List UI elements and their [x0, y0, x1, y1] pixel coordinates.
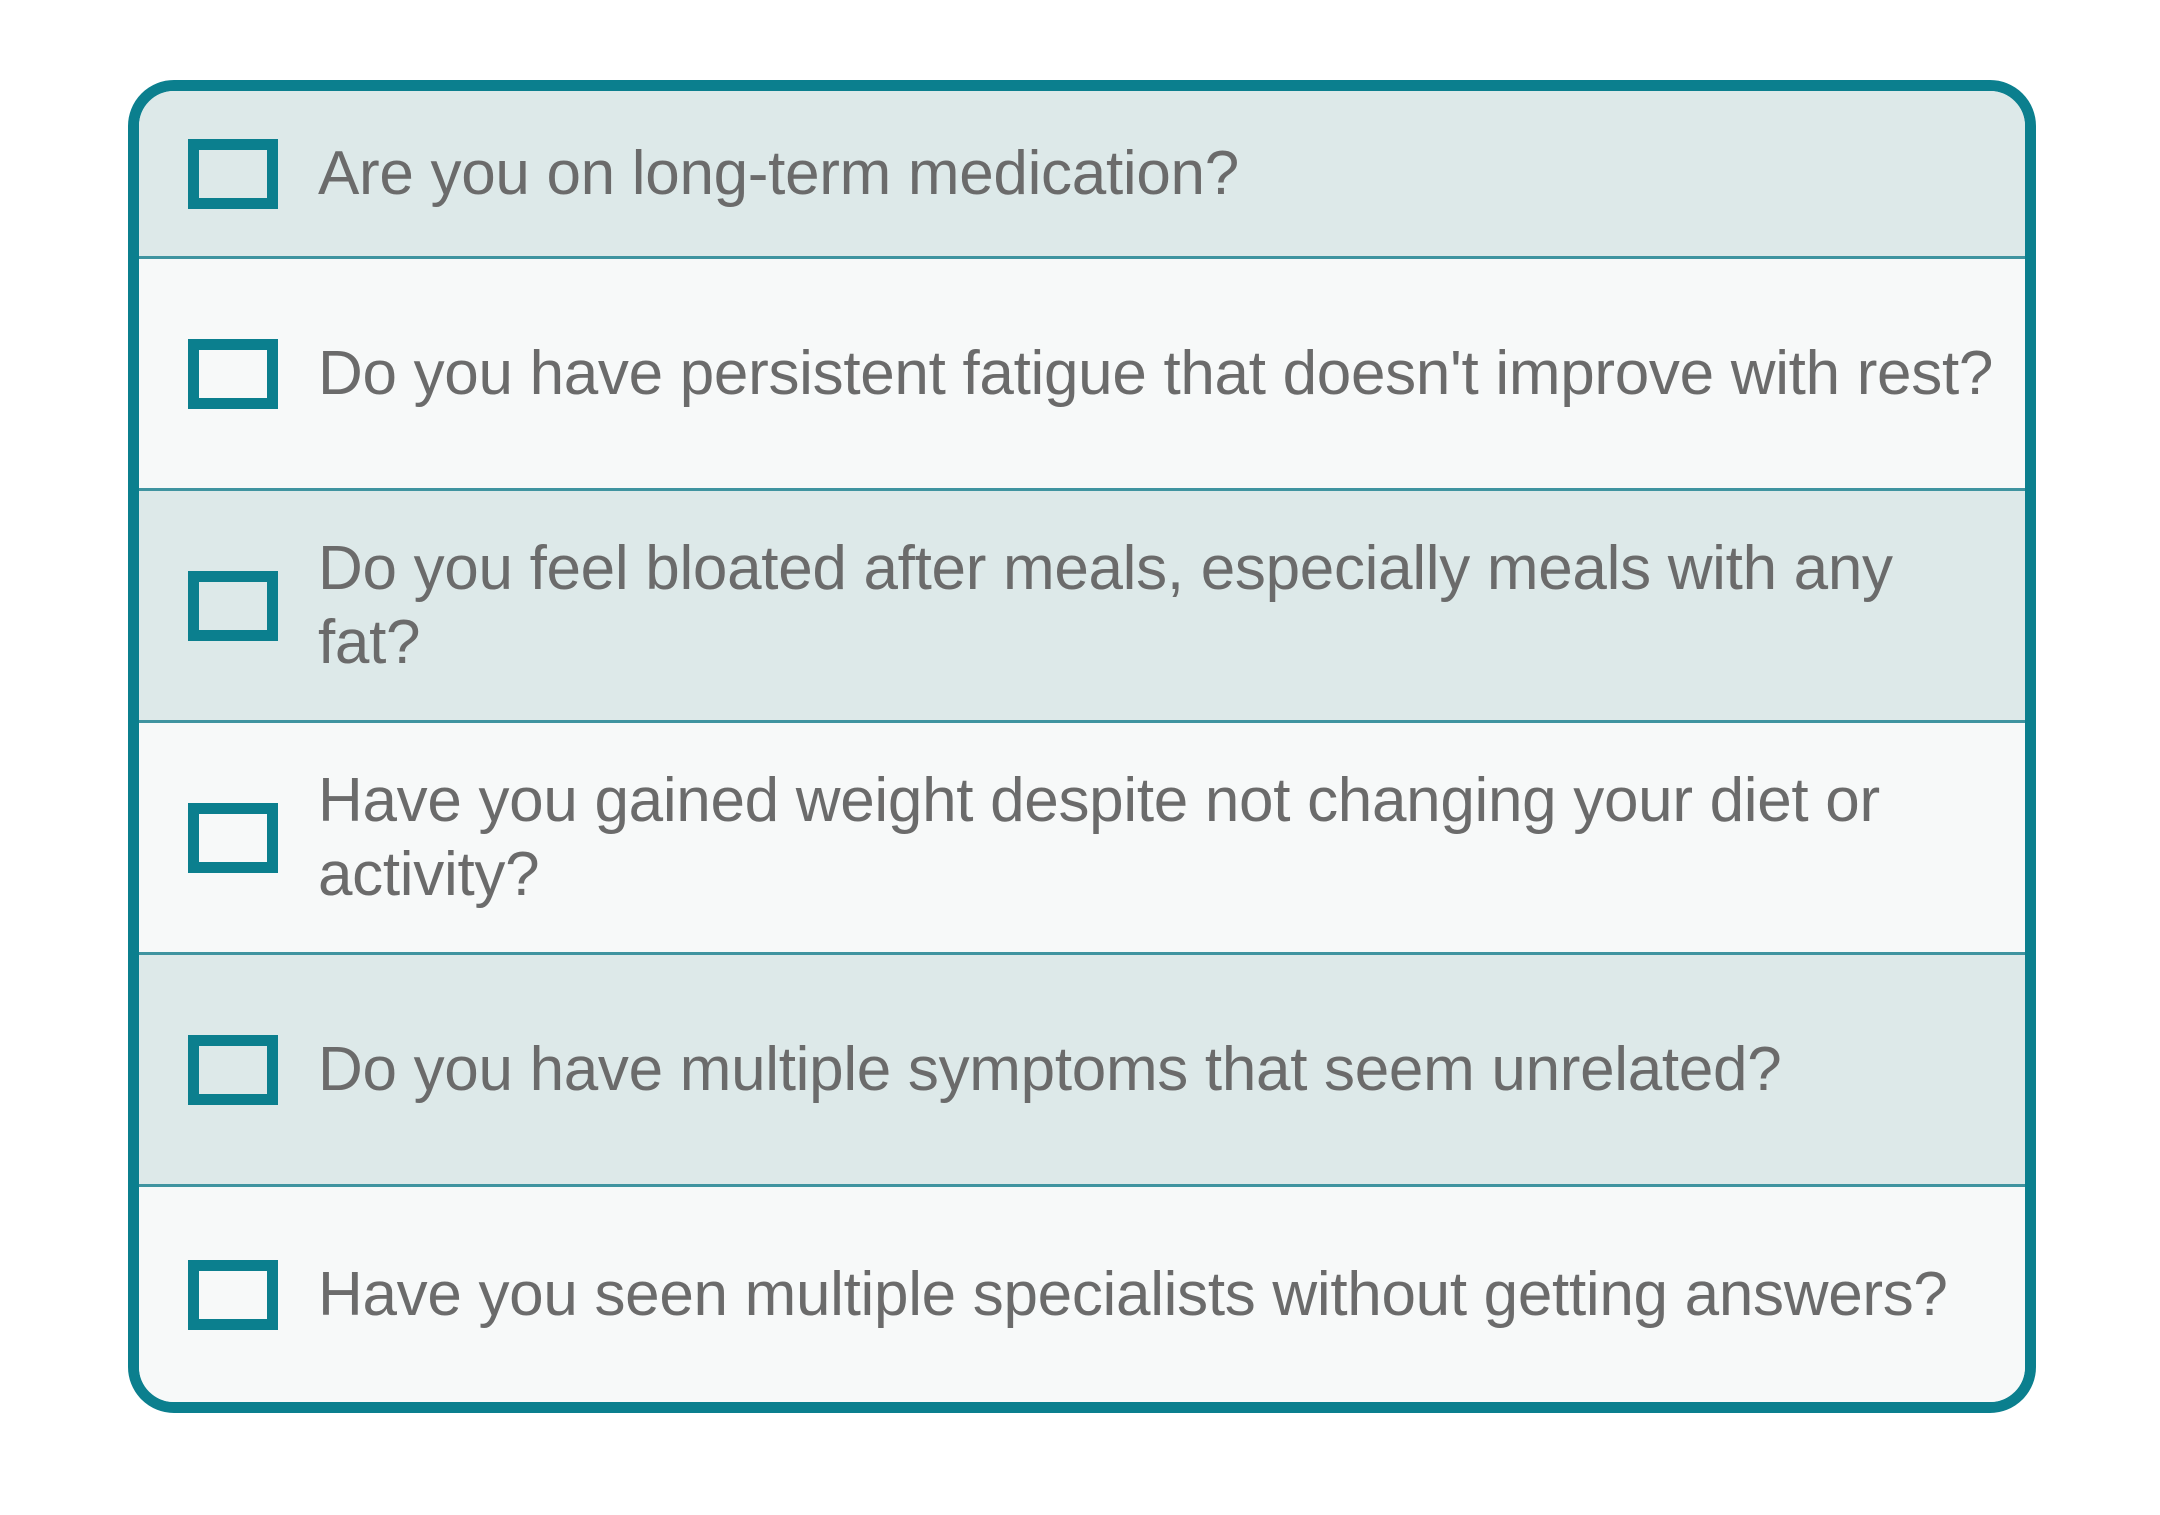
checkbox-bloated-after-meals[interactable] — [188, 571, 278, 641]
checklist-item-label: Do you feel bloated after meals, especia… — [318, 532, 2007, 678]
checklist-item-bloated-after-meals[interactable]: Do you feel bloated after meals, especia… — [139, 491, 2025, 723]
checklist-item-label: Have you seen multiple specialists witho… — [318, 1258, 2007, 1331]
checklist-item-persistent-fatigue[interactable]: Do you have persistent fatigue that does… — [139, 259, 2025, 491]
checklist-item-label: Have you gained weight despite not chang… — [318, 764, 2007, 910]
checkbox-long-term-medication[interactable] — [188, 139, 278, 209]
checklist-item-label: Do you have multiple symptoms that seem … — [318, 1033, 2007, 1106]
checkbox-multiple-specialists[interactable] — [188, 1260, 278, 1330]
symptom-checklist-card: Are you on long-term medication? Do you … — [128, 80, 2036, 1413]
checkbox-unrelated-symptoms[interactable] — [188, 1035, 278, 1105]
checklist-item-multiple-specialists[interactable]: Have you seen multiple specialists witho… — [139, 1187, 2025, 1402]
checkbox-persistent-fatigue[interactable] — [188, 339, 278, 409]
checklist-item-label: Do you have persistent fatigue that does… — [318, 337, 2007, 410]
checkbox-weight-gain[interactable] — [188, 803, 278, 873]
checklist-item-long-term-medication[interactable]: Are you on long-term medication? — [139, 91, 2025, 259]
checklist-item-label: Are you on long-term medication? — [318, 137, 2007, 210]
checklist-rows: Are you on long-term medication? Do you … — [139, 91, 2025, 1402]
checklist-item-unrelated-symptoms[interactable]: Do you have multiple symptoms that seem … — [139, 955, 2025, 1187]
checklist-item-weight-gain[interactable]: Have you gained weight despite not chang… — [139, 723, 2025, 955]
